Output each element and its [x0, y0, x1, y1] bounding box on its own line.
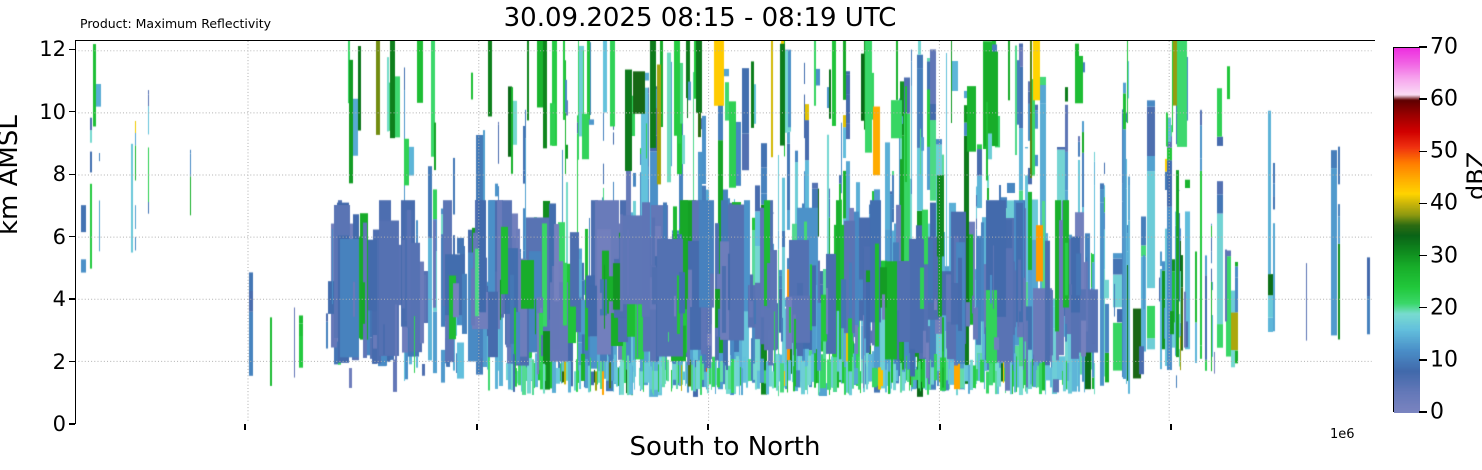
- y-axis-tick-mark: [69, 361, 75, 362]
- colorbar-tick-mark: [1419, 307, 1427, 308]
- colorbar-tick-label: 50: [1430, 139, 1458, 164]
- reflectivity-heatmap-canvas: [76, 41, 1376, 425]
- colorbar-tick-mark: [1419, 359, 1427, 360]
- colorbar-tick-mark: [1419, 255, 1427, 256]
- y-axis-tick-mark: [69, 236, 75, 237]
- colorbar-tick-label: 20: [1430, 295, 1458, 320]
- colorbar-tick-label: 10: [1430, 347, 1458, 372]
- x-axis-label: South to North: [75, 432, 1375, 462]
- x-axis-tick-mark: [939, 424, 940, 430]
- y-axis-tick-mark: [69, 298, 75, 299]
- y-axis-label: km AMSL: [0, 115, 24, 235]
- x-axis-tick-mark: [707, 424, 708, 430]
- colorbar-tick-mark: [1419, 151, 1427, 152]
- y-axis-tick-mark: [69, 423, 75, 424]
- colorbar-tick-mark: [1419, 203, 1427, 204]
- colorbar-tick-mark: [1419, 411, 1427, 412]
- colorbar-tick-label: 30: [1430, 243, 1458, 268]
- x-axis-offset-text: 1e6: [1330, 427, 1355, 442]
- colorbar-tick-mark: [1419, 46, 1427, 47]
- x-axis-tick-mark: [1170, 424, 1171, 430]
- y-axis-tick-mark: [69, 111, 75, 112]
- colorbar-tick-label: 0: [1430, 400, 1444, 425]
- y-axis-tick-label: 8: [53, 162, 66, 186]
- product-label: Product: Maximum Reflectivity: [80, 16, 271, 31]
- y-axis-tick-mark: [69, 174, 75, 175]
- y-axis-tick-label: 4: [53, 287, 66, 311]
- colorbar-tick-label: 60: [1430, 87, 1458, 112]
- y-axis-tick-label: 10: [39, 100, 66, 124]
- plot-area: [75, 40, 1375, 424]
- colorbar-tick-mark: [1419, 98, 1427, 99]
- colorbar-tick-label: 70: [1430, 35, 1458, 60]
- colorbar: [1393, 47, 1419, 412]
- x-axis-tick-mark: [244, 424, 245, 430]
- y-axis-tick-mark: [69, 49, 75, 50]
- colorbar-gradient: [1394, 48, 1420, 413]
- y-axis-tick-label: 2: [53, 350, 66, 374]
- x-axis-tick-mark: [476, 424, 477, 430]
- y-axis-tick-label: 6: [53, 225, 66, 249]
- radar-cross-section-figure: 30.09.2025 08:15 - 08:19 UTC Product: Ma…: [0, 0, 1482, 470]
- colorbar-label: dBZ: [1462, 152, 1482, 200]
- y-axis-tick-label: 0: [53, 412, 66, 436]
- y-axis-tick-label: 12: [39, 37, 66, 61]
- colorbar-tick-label: 40: [1430, 191, 1458, 216]
